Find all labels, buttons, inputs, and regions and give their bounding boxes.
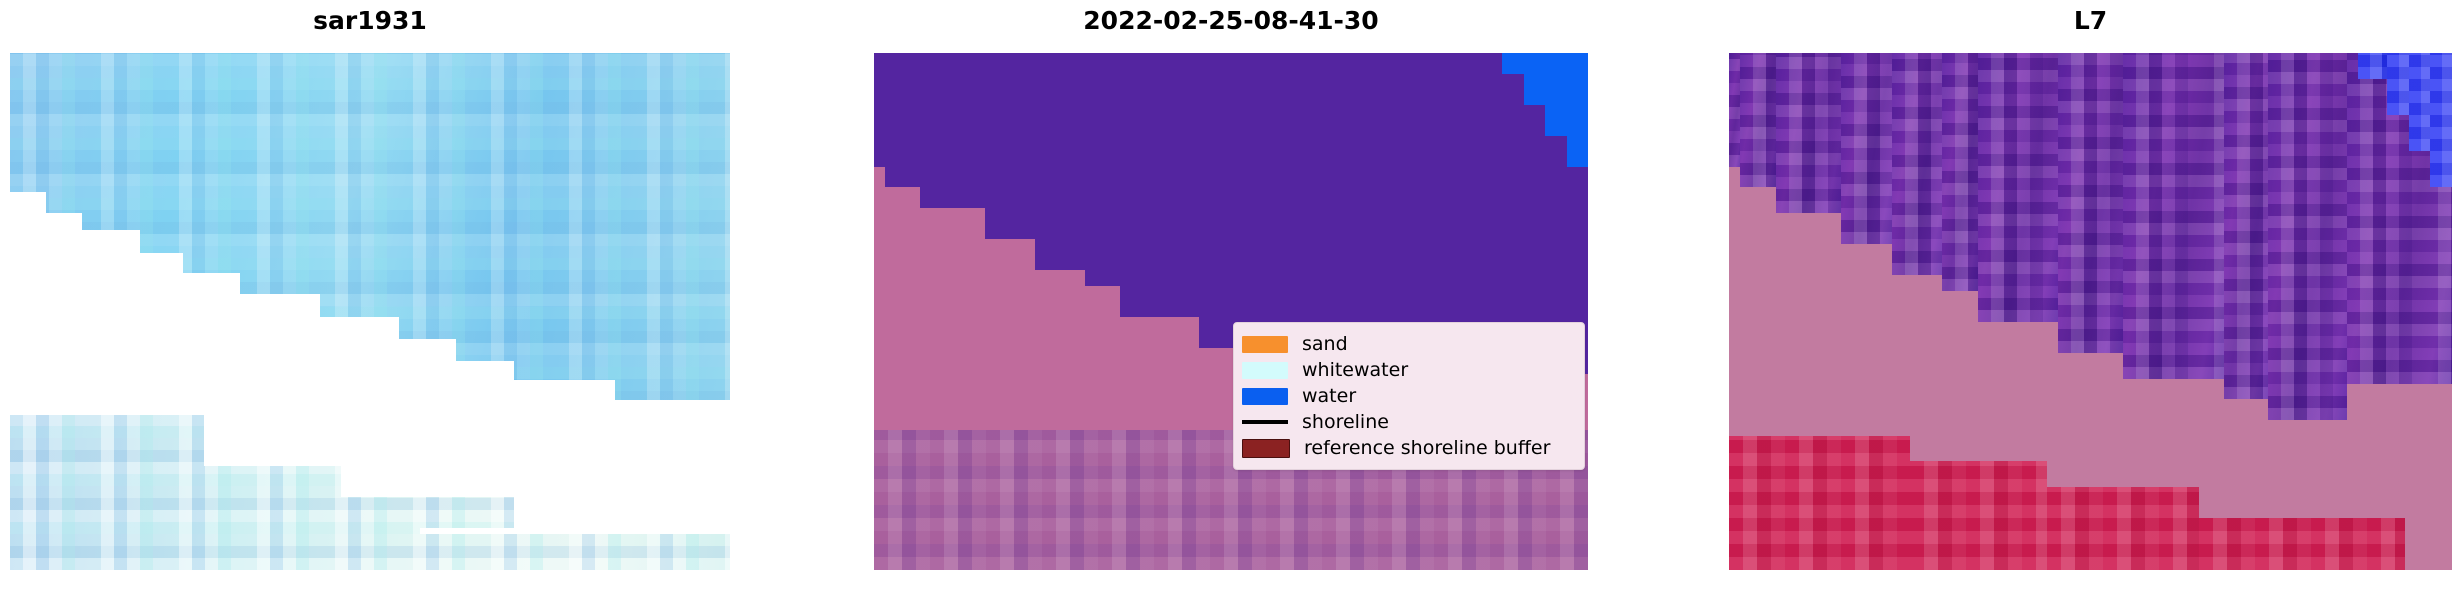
legend-swatch-sand: [1242, 336, 1288, 353]
l7-buffer-step-4: [2199, 518, 2405, 570]
axes-l7: [1729, 53, 2452, 570]
classified-water-step-3: [1545, 53, 1566, 136]
l7-water-step-4: [1841, 53, 1892, 244]
l7-buffer-step-3: [2047, 487, 2199, 570]
l7-water-step-1: [1729, 53, 1740, 167]
panel-title-l7: L7: [1729, 6, 2452, 35]
sar-nodata-step-6: [240, 294, 319, 307]
legend-label-reference-shoreline-buffer: reference shoreline buffer: [1304, 439, 1550, 458]
legend-swatch-shoreline: [1242, 420, 1288, 424]
l7-blue-step-1: [2358, 53, 2387, 79]
legend-label-shoreline: shoreline: [1302, 413, 1389, 432]
panel-l7: L7: [1729, 0, 2452, 590]
legend-item-sand[interactable]: sand: [1242, 331, 1574, 357]
sar-nodata-step-3: [82, 230, 140, 306]
legend-swatch-whitewater: [1242, 362, 1288, 379]
legend-swatch-water: [1242, 388, 1288, 405]
sar-nodata-step-1: [10, 192, 46, 306]
legend-label-whitewater: whitewater: [1302, 361, 1408, 380]
classified-whitewater-step-5: [1035, 53, 1085, 270]
sar-nodata-step-7: [10, 306, 320, 415]
sar-lower-nodata-2: [341, 466, 730, 497]
classified-whitewater-step-7: [1120, 53, 1199, 317]
legend-swatch-reference-shoreline-buffer: [1242, 439, 1290, 458]
l7-blue-step-3: [2409, 53, 2431, 151]
sar-nodata-step-2: [46, 213, 82, 307]
sar-nodata-step-12: [615, 400, 730, 415]
l7-water-step-6: [1942, 53, 1978, 291]
l7-water-step-7: [1978, 53, 2058, 322]
figure-canvas: sar1931: [0, 0, 2460, 590]
l7-water-step-5: [1892, 53, 1943, 275]
l7-buffer-step-1: [1729, 436, 1910, 570]
sar-nodata-step-9: [399, 339, 457, 415]
l7-water-step-2: [1740, 53, 1776, 187]
panel-title-classified: 2022-02-25-08-41-30: [874, 6, 1588, 35]
panel-classified: 2022-02-25-08-41-30: [874, 0, 1588, 590]
sar-lower-raster: [10, 415, 730, 570]
sar-nodata-step-4: [140, 253, 183, 306]
sar-lower-nodata-1: [204, 415, 730, 466]
axes-sar: [10, 53, 730, 570]
classified-water-step-4: [1567, 53, 1588, 167]
panel-sar: sar1931: [10, 0, 730, 590]
l7-buffer-step-2: [1910, 461, 2047, 570]
sar-nodata-step-10: [456, 361, 514, 415]
legend-label-sand: sand: [1302, 335, 1348, 354]
classified-whitewater-step-4: [985, 53, 1035, 239]
classified-whitewater-step-1: [874, 53, 885, 167]
classified-water-step-2: [1524, 53, 1545, 105]
l7-blue-step-2: [2387, 53, 2409, 115]
legend-item-whitewater[interactable]: whitewater: [1242, 357, 1574, 383]
legend-item-water[interactable]: water: [1242, 383, 1574, 409]
legend-box: sand whitewater water shoreline referenc…: [1233, 322, 1585, 470]
legend-item-shoreline[interactable]: shoreline: [1242, 409, 1574, 435]
legend-label-water: water: [1302, 387, 1356, 406]
l7-blue-step-4: [2430, 53, 2452, 187]
panel-title-sar: sar1931: [10, 6, 730, 35]
l7-water-step-10: [2224, 53, 2267, 399]
l7-water-step-11: [2268, 53, 2348, 420]
sar-nodata-step-8: [320, 317, 399, 415]
legend-item-reference-shoreline-buffer[interactable]: reference shoreline buffer: [1242, 435, 1574, 461]
sar-lower-nodata-4: [420, 528, 730, 534]
sar-mid-raster: [10, 306, 730, 415]
sar-lower-nodata-3: [514, 497, 730, 528]
classified-water-step-1: [1502, 53, 1523, 74]
classified-whitewater-step-3: [920, 53, 984, 208]
sar-nodata-step-11: [514, 380, 615, 415]
l7-water-step-3: [1776, 53, 1841, 213]
l7-water-step-8: [2058, 53, 2123, 353]
classified-whitewater-step-2: [885, 53, 921, 187]
l7-water-step-9: [2123, 53, 2224, 379]
sar-upper-raster: [10, 53, 730, 306]
sar-nodata-step-5: [183, 273, 241, 306]
classified-whitewater-step-6: [1085, 53, 1121, 286]
axes-classified: [874, 53, 1588, 570]
classified-whitewater-step-8: [1199, 53, 1263, 348]
